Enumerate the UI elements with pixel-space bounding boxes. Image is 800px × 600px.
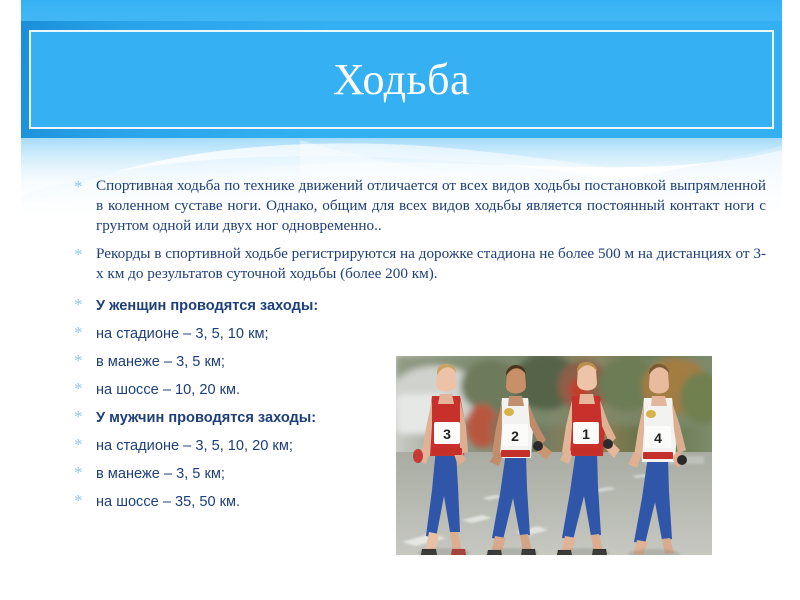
title-banner: Ходьба — [21, 21, 782, 138]
svg-text:2: 2 — [511, 428, 519, 444]
paragraph-text: Спортивная ходьба по технике движений от… — [96, 176, 766, 235]
race-walking-photo: 3 2 — [396, 356, 712, 555]
paragraph-block: * Спортивная ходьба по технике движений … — [0, 176, 800, 235]
paragraph-block: * Рекорды в спортивной ходьбе регистриру… — [0, 244, 800, 284]
asterisk-bullet-icon: * — [74, 176, 83, 197]
asterisk-bullet-icon: * — [74, 350, 83, 371]
asterisk-bullet-icon: * — [74, 406, 83, 427]
asterisk-bullet-icon: * — [74, 490, 83, 511]
asterisk-bullet-icon: * — [74, 378, 83, 399]
asterisk-bullet-icon: * — [74, 322, 83, 343]
title-banner-inner-frame: Ходьба — [29, 30, 774, 129]
list-item-label: на стадионе – 3, 5, 10 км; — [96, 321, 800, 347]
list-item: * У женщин проводятся заходы: — [0, 293, 800, 321]
svg-text:3: 3 — [443, 426, 451, 442]
asterisk-bullet-icon: * — [74, 462, 83, 483]
page-title: Ходьба — [333, 58, 470, 102]
list-item: * на стадионе – 3, 5, 10 км; — [0, 321, 800, 349]
race-walking-illustration: 3 2 — [396, 356, 712, 555]
svg-text:1: 1 — [582, 426, 590, 442]
asterisk-bullet-icon: * — [74, 294, 83, 315]
asterisk-bullet-icon: * — [74, 434, 83, 455]
asterisk-bullet-icon: * — [74, 244, 83, 265]
paragraph-text: Рекорды в спортивной ходьбе регистрируют… — [96, 244, 766, 284]
svg-text:4: 4 — [654, 430, 662, 446]
list-item-label: У женщин проводятся заходы: — [96, 293, 800, 319]
